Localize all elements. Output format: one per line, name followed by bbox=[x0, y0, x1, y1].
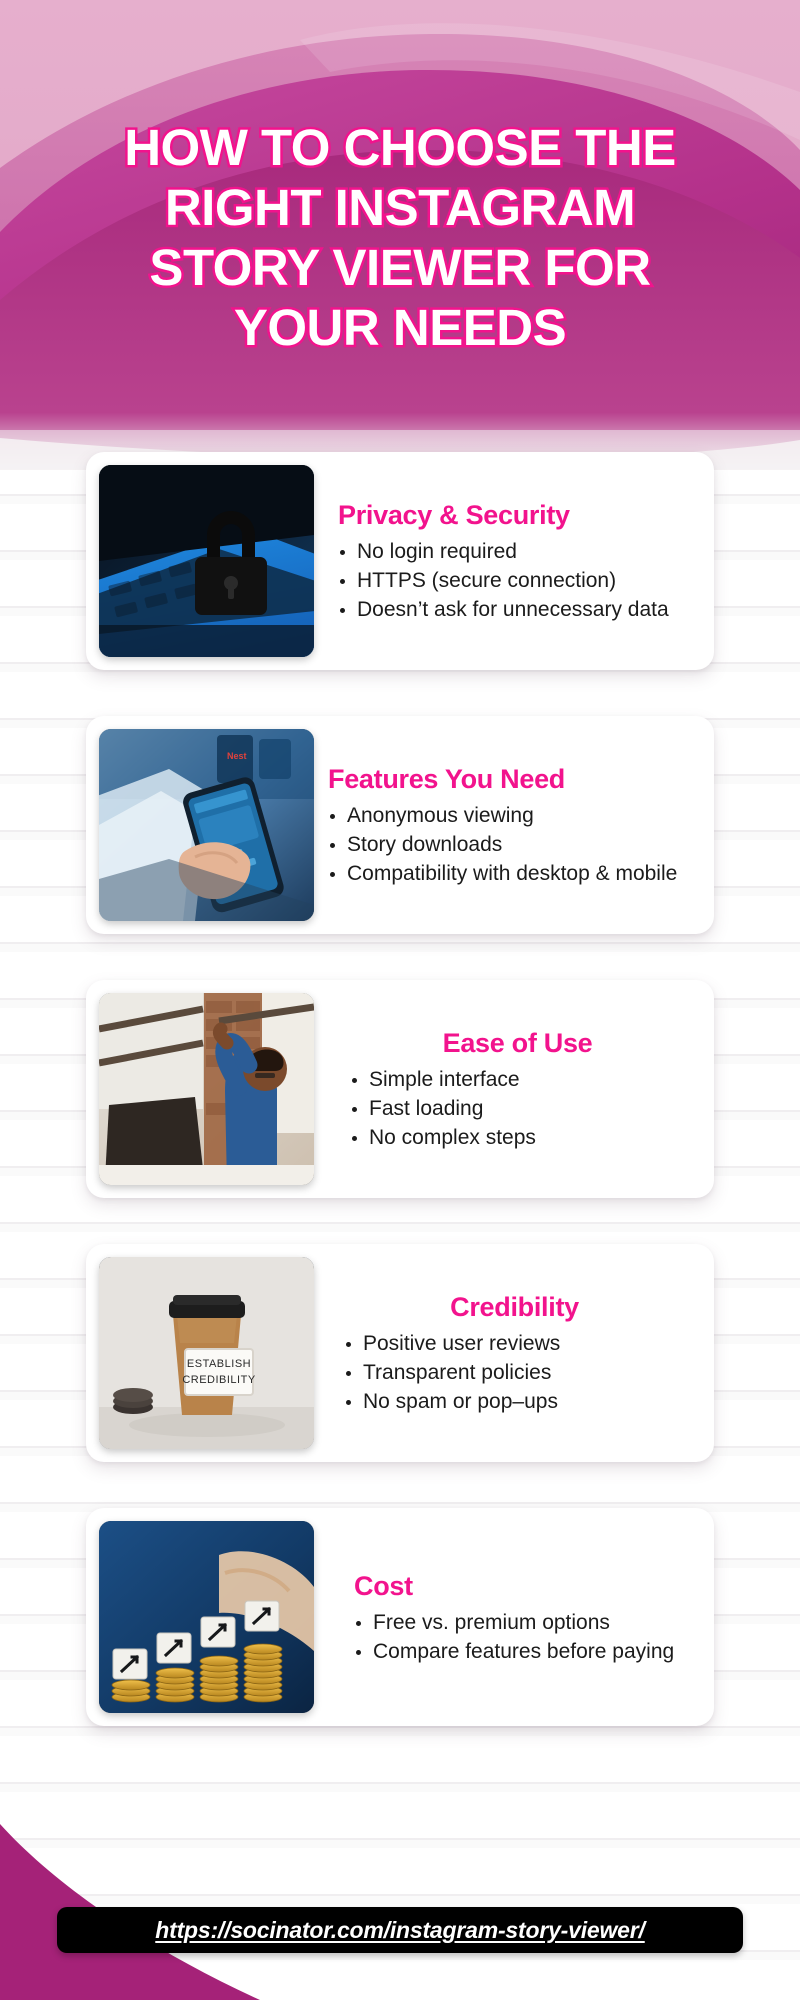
card-body-cost: Cost Free vs. premium options Compare fe… bbox=[314, 1521, 701, 1713]
list-item: Free vs. premium options bbox=[354, 1609, 685, 1637]
list-item: Positive user reviews bbox=[344, 1330, 685, 1358]
growth-arrow-tile bbox=[113, 1649, 147, 1679]
card-bullets-credibility: Positive user reviews Transparent polici… bbox=[344, 1330, 685, 1417]
list-item: HTTPS (secure connection) bbox=[338, 567, 685, 595]
card-bullets-features-you-need: Anonymous viewing Story downloads Compat… bbox=[328, 802, 685, 889]
footer-url-bar[interactable]: https://socinator.com/instagram-story-vi… bbox=[57, 1907, 743, 1953]
card-cost[interactable]: Cost Free vs. premium options Compare fe… bbox=[86, 1508, 714, 1726]
padlock-icon bbox=[99, 465, 314, 657]
card-body-privacy-security: Privacy & Security No login required HTT… bbox=[314, 465, 701, 657]
sign-line-1: ESTABLISH bbox=[187, 1358, 251, 1370]
feature-card-list: Privacy & Security No login required HTT… bbox=[0, 452, 800, 1726]
card-privacy-security[interactable]: Privacy & Security No login required HTT… bbox=[86, 452, 714, 670]
list-item: Simple interface bbox=[350, 1066, 685, 1094]
poster-title: HOW TO CHOOSE THE RIGHT INSTAGRAM STORY … bbox=[0, 118, 800, 358]
title-line-4: YOUR NEEDS bbox=[26, 298, 774, 358]
card-title-cost: Cost bbox=[354, 1570, 685, 1602]
man-celebrating-at-laptop-photo bbox=[99, 993, 314, 1185]
hand-stacking-coins-with-growth-arrows-photo bbox=[99, 1521, 314, 1713]
celebrating-man-icon bbox=[99, 993, 314, 1185]
list-item: No spam or pop–ups bbox=[344, 1388, 685, 1416]
footer-magenta-shape bbox=[0, 1790, 320, 2000]
title-line-3: STORY VIEWER FOR bbox=[26, 238, 774, 298]
growth-arrow-tile bbox=[201, 1617, 235, 1647]
list-item: Doesn’t ask for unnecessary data bbox=[338, 596, 685, 624]
person-holding-smartphone-photo: Nest bbox=[99, 729, 314, 921]
list-item: Compare features before paying bbox=[354, 1638, 685, 1666]
list-item: Story downloads bbox=[328, 831, 685, 859]
title-line-1: HOW TO CHOOSE THE bbox=[26, 118, 774, 178]
sign-line-2: CREDIBILITY bbox=[182, 1374, 256, 1386]
card-credibility[interactable]: ESTABLISH CREDIBILITY Credibility Positi… bbox=[86, 1244, 714, 1462]
list-item: Transparent policies bbox=[344, 1359, 685, 1387]
infographic-poster: HOW TO CHOOSE THE RIGHT INSTAGRAM STORY … bbox=[0, 0, 800, 2000]
title-line-2: RIGHT INSTAGRAM bbox=[26, 178, 774, 238]
list-item: Compatibility with desktop & mobile bbox=[328, 860, 685, 888]
coffee-cup-with-establish-credibility-sign-photo: ESTABLISH CREDIBILITY bbox=[99, 1257, 314, 1449]
smartphone-in-hand-icon: Nest bbox=[99, 729, 314, 921]
card-body-credibility: Credibility Positive user reviews Transp… bbox=[314, 1257, 701, 1449]
growth-arrow-tile bbox=[157, 1633, 191, 1663]
list-item: Fast loading bbox=[350, 1095, 685, 1123]
coin-stacks-icon bbox=[99, 1521, 314, 1713]
list-item: No complex steps bbox=[350, 1124, 685, 1152]
list-item: Anonymous viewing bbox=[328, 802, 685, 830]
card-body-ease-of-use: Ease of Use Simple interface Fast loadin… bbox=[314, 993, 701, 1185]
svg-text:Nest: Nest bbox=[227, 751, 247, 761]
footer-curve-svg bbox=[0, 1790, 320, 2000]
card-ease-of-use[interactable]: Ease of Use Simple interface Fast loadin… bbox=[86, 980, 714, 1198]
growth-arrow-tile bbox=[245, 1601, 279, 1631]
footer-url-text[interactable]: https://socinator.com/instagram-story-vi… bbox=[155, 1917, 644, 1944]
card-title-ease-of-use: Ease of Use bbox=[350, 1027, 685, 1059]
coffee-cup-icon: ESTABLISH CREDIBILITY bbox=[99, 1257, 314, 1449]
card-title-privacy-security: Privacy & Security bbox=[338, 499, 685, 531]
card-title-features-you-need: Features You Need bbox=[328, 763, 685, 795]
card-body-features-you-need: Features You Need Anonymous viewing Stor… bbox=[314, 729, 701, 921]
card-bullets-cost: Free vs. premium options Compare feature… bbox=[354, 1609, 685, 1667]
padlock-on-laptop-keyboard-photo bbox=[99, 465, 314, 657]
card-bullets-privacy-security: No login required HTTPS (secure connecti… bbox=[338, 538, 685, 625]
card-features-you-need[interactable]: Nest Features bbox=[86, 716, 714, 934]
list-item: No login required bbox=[338, 538, 685, 566]
card-bullets-ease-of-use: Simple interface Fast loading No complex… bbox=[350, 1066, 685, 1153]
card-title-credibility: Credibility bbox=[344, 1291, 685, 1323]
